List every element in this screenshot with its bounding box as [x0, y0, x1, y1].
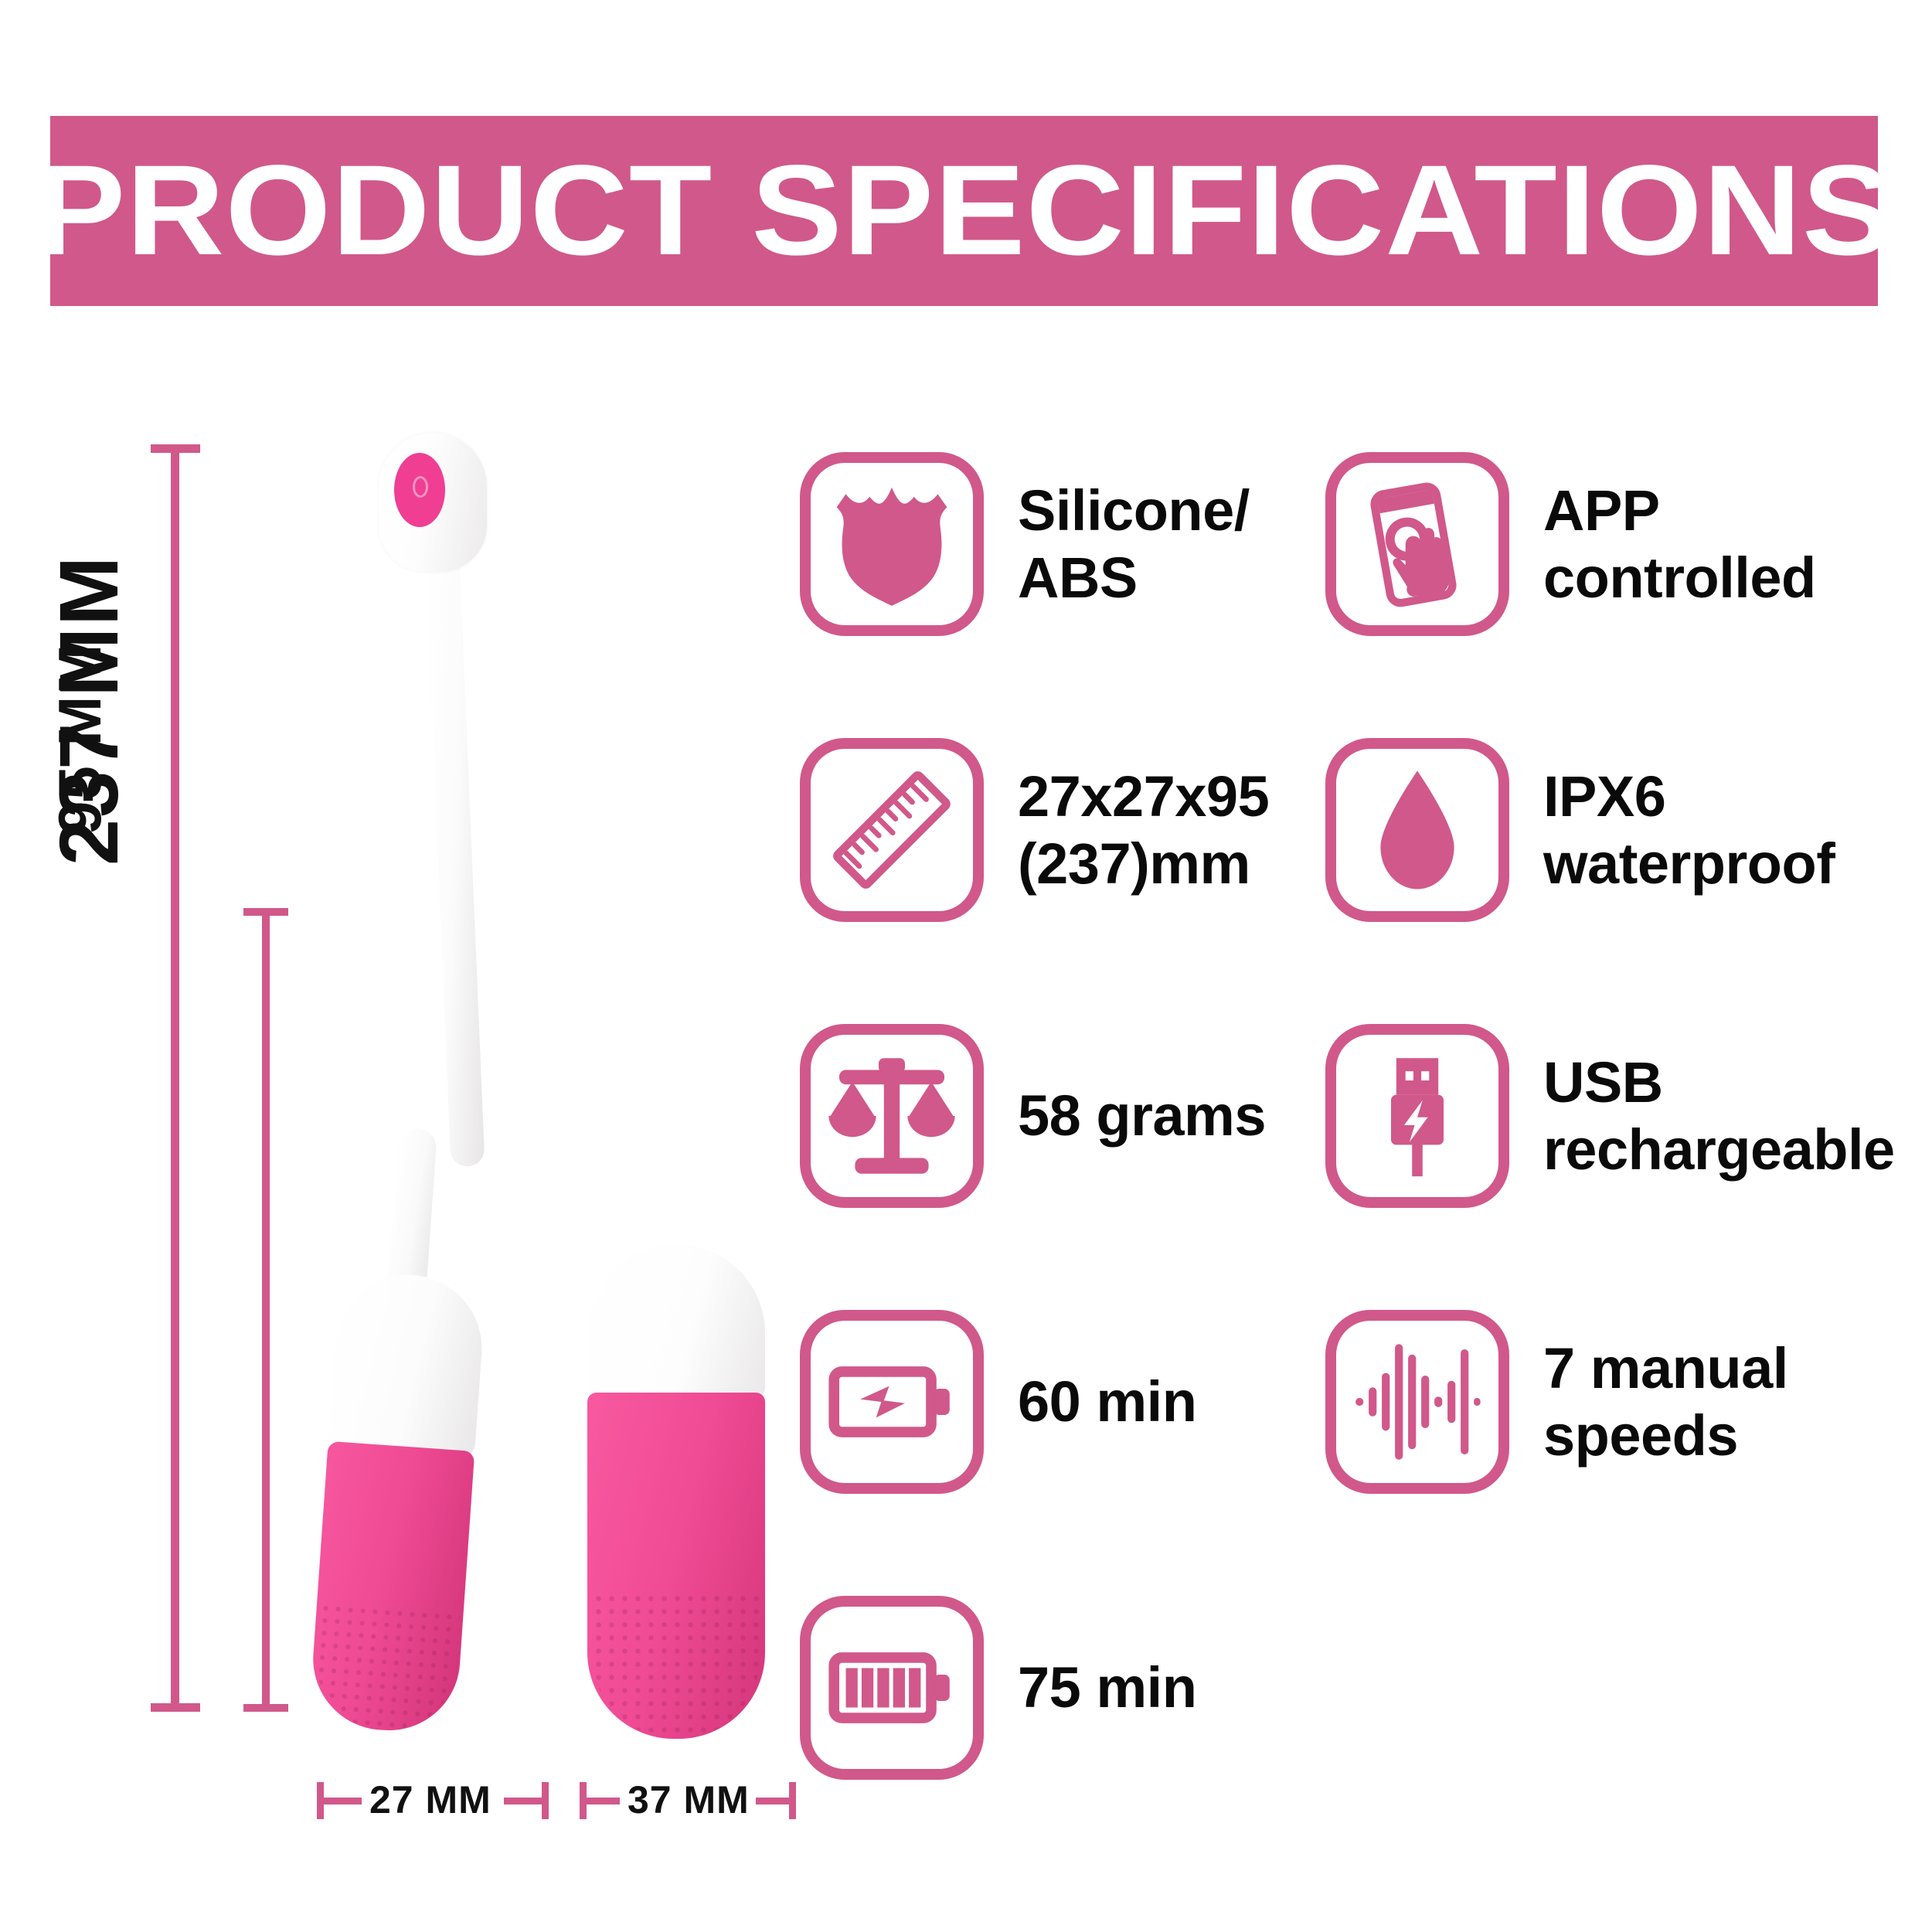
product-egg-textured-tip — [592, 1592, 760, 1739]
dimension-label-egg-length: 95 MM — [45, 643, 115, 835]
spec-label: 58 grams — [1018, 1082, 1266, 1149]
dimension-line-width-a: 27 MM — [317, 1777, 549, 1824]
product-body — [308, 1270, 487, 1735]
spec-icon-box — [1325, 1310, 1509, 1494]
spec-icon-box — [800, 738, 984, 922]
page-title: PRODUCT SPECIFICATIONS — [35, 147, 1893, 275]
dimension-bar-left — [320, 1798, 362, 1804]
spec-label: Silicone/ ABS — [1018, 477, 1250, 612]
product-image-wand — [309, 433, 556, 1747]
dimension-stem — [262, 908, 270, 1712]
product-dimension-panel: 237 MM 95 MM 27 MM — [46, 433, 773, 1839]
dimension-tick-right — [542, 1782, 549, 1819]
product-tail-upper — [425, 548, 485, 1167]
ruler-icon — [826, 764, 957, 896]
product-textured-tip — [311, 1602, 461, 1735]
product-egg-pink-body — [587, 1393, 765, 1739]
battery-full-icon — [826, 1622, 957, 1753]
dimension-label-width-a: 27 MM — [369, 1777, 492, 1822]
header-banner: PRODUCT SPECIFICATIONS — [50, 116, 1878, 306]
spec-icon-box — [800, 1596, 984, 1780]
specification-grid: Silicone/ ABS APP controlled — [800, 452, 1897, 1882]
spec-label: 60 min — [1018, 1368, 1196, 1435]
dimension-label-width-b: 37 MM — [628, 1777, 750, 1822]
dimension-cap-bottom — [151, 1703, 200, 1712]
spec-icon-box — [1325, 1024, 1509, 1208]
spec-label: 75 min — [1018, 1654, 1196, 1721]
spec-label: USB rechargeable — [1543, 1049, 1895, 1184]
product-controller-head — [379, 433, 487, 572]
spec-item-charge-time: 60 min — [800, 1310, 1325, 1494]
power-button — [394, 453, 445, 527]
spec-item-run-time: 75 min — [800, 1596, 1325, 1780]
dimension-line-egg-length — [243, 908, 287, 1712]
battery-charging-icon — [826, 1336, 957, 1468]
spec-label: IPX6 waterproof — [1543, 763, 1835, 898]
spec-icon-box — [800, 1310, 984, 1494]
product-egg-white-cap — [587, 1244, 765, 1399]
spec-item-rechargeable: USB rechargeable — [1325, 1024, 1866, 1208]
dimension-bar-left — [583, 1798, 620, 1804]
dimension-line-width-b: 37 MM — [580, 1777, 796, 1824]
shield-icon — [826, 478, 957, 610]
dimension-stem — [171, 444, 179, 1712]
spec-item-app-controlled: APP controlled — [1325, 452, 1866, 636]
water-drop-icon — [1352, 764, 1483, 896]
spec-icon-box — [1325, 738, 1509, 922]
spec-icon-box — [800, 1024, 984, 1208]
spec-item-weight: 58 grams — [800, 1024, 1325, 1208]
phone-tap-icon — [1352, 478, 1483, 610]
spec-label: 27x27x95 (237)mm — [1018, 763, 1269, 898]
dimension-tick-right — [789, 1782, 796, 1819]
spec-label: 7 manual speeds — [1543, 1335, 1788, 1470]
spec-item-speeds: 7 manual speeds — [1325, 1310, 1866, 1494]
spec-label: APP controlled — [1543, 477, 1816, 612]
product-image-egg — [587, 1244, 765, 1739]
spec-icon-box — [1325, 452, 1509, 636]
dimension-cap-bottom — [243, 1704, 288, 1712]
dimension-bar-right — [504, 1798, 546, 1804]
balance-scale-icon — [826, 1050, 957, 1182]
spec-item-waterproof: IPX6 waterproof — [1325, 738, 1866, 922]
dimension-bar-right — [756, 1798, 793, 1804]
usb-plug-icon — [1352, 1050, 1483, 1182]
spec-item-size: 27x27x95 (237)mm — [800, 738, 1325, 922]
product-body-white-section — [328, 1270, 487, 1458]
spec-icon-box — [800, 452, 984, 636]
soundwave-icon — [1352, 1336, 1483, 1468]
product-body-pink-section — [308, 1441, 474, 1735]
spec-item-material: Silicone/ ABS — [800, 452, 1325, 636]
dimension-line-total-length — [151, 444, 197, 1712]
